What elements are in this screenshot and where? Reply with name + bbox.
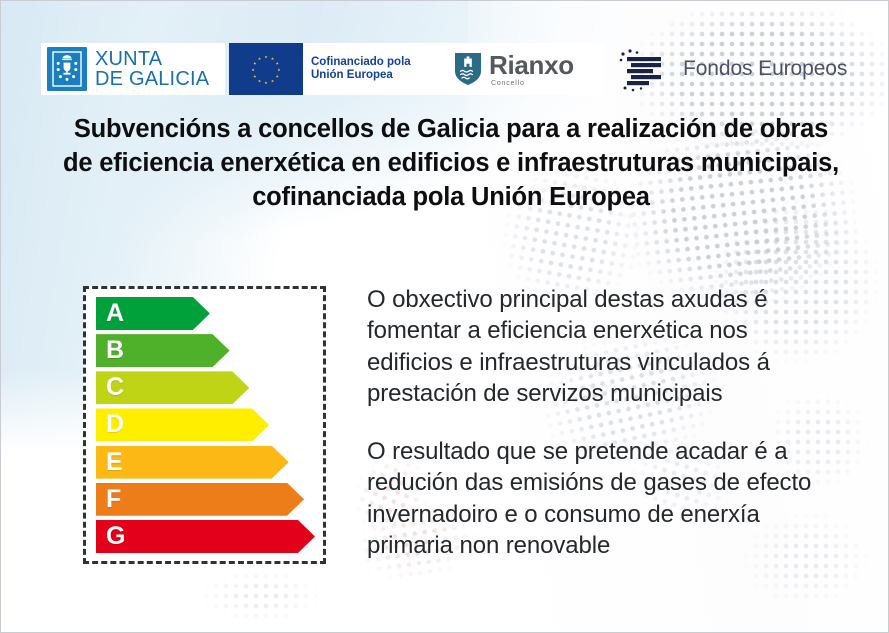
european-union-cofinancing-logo: Cofinanciado pola Unión Europea xyxy=(229,43,425,95)
fondos-europeos-label: Fondos Europeos xyxy=(683,57,847,81)
logo-strip: XUNTA DE GALICIA xyxy=(1,1,889,106)
energy-class-letter: E xyxy=(96,450,123,475)
fondos-europeos-logo: Fondos Europeos xyxy=(617,41,852,97)
eu-logo-line1: Cofinanciado pola xyxy=(311,56,411,69)
page-title: Subvencións a concellos de Galicia para … xyxy=(56,113,846,215)
rianxo-shield-icon xyxy=(454,52,482,86)
energy-efficiency-scale: A B C D E F G xyxy=(83,286,326,564)
rianxo-logo-wordmark: Rianxo Concello xyxy=(489,52,574,87)
fondos-europeos-bars-icon xyxy=(617,46,673,92)
energy-class-arrow xyxy=(96,446,289,479)
xunta-de-galicia-logo: XUNTA DE GALICIA xyxy=(41,43,225,95)
eu-flag-stars-icon xyxy=(229,43,303,95)
concello-de-rianxo-logo: Rianxo Concello xyxy=(424,43,604,95)
rianxo-logo-title: Rianxo xyxy=(489,52,574,78)
galicia-coat-of-arms-icon xyxy=(47,47,87,91)
body-text-column: O obxectivo principal destas axudas é fo… xyxy=(367,284,837,562)
body-paragraph-2: O resultado que se pretende acadar é a r… xyxy=(367,436,837,562)
rianxo-logo-subtitle: Concello xyxy=(491,80,574,87)
poster-slide: XUNTA DE GALICIA xyxy=(0,0,889,633)
energy-class-arrow xyxy=(96,520,315,553)
energy-class-row: E xyxy=(96,446,315,479)
energy-class-letter: A xyxy=(96,301,124,326)
xunta-logo-wordmark: XUNTA DE GALICIA xyxy=(95,49,209,89)
energy-class-letter: B xyxy=(96,338,124,363)
energy-class-letter: G xyxy=(96,524,125,549)
eu-logo-line2: Unión Europea xyxy=(311,69,411,82)
body-paragraph-1: O obxectivo principal destas axudas é fo… xyxy=(367,284,837,410)
halftone-dot-map-region xyxy=(171,561,351,631)
energy-class-row: D xyxy=(96,408,315,441)
energy-class-row: A xyxy=(96,297,315,330)
energy-class-row: G xyxy=(96,520,315,553)
energy-class-letter: F xyxy=(96,487,121,512)
energy-class-letter: C xyxy=(96,375,124,400)
energy-class-row: B xyxy=(96,334,315,367)
xunta-logo-line2: DE GALICIA xyxy=(95,69,209,89)
energy-class-row: F xyxy=(96,483,315,516)
xunta-logo-line1: XUNTA xyxy=(95,49,209,69)
energy-class-list: A B C D E F G xyxy=(96,297,315,553)
eu-logo-wordmark: Cofinanciado pola Unión Europea xyxy=(303,56,411,82)
energy-class-row: C xyxy=(96,371,315,404)
energy-class-letter: D xyxy=(96,412,124,437)
energy-class-arrow xyxy=(96,483,304,516)
